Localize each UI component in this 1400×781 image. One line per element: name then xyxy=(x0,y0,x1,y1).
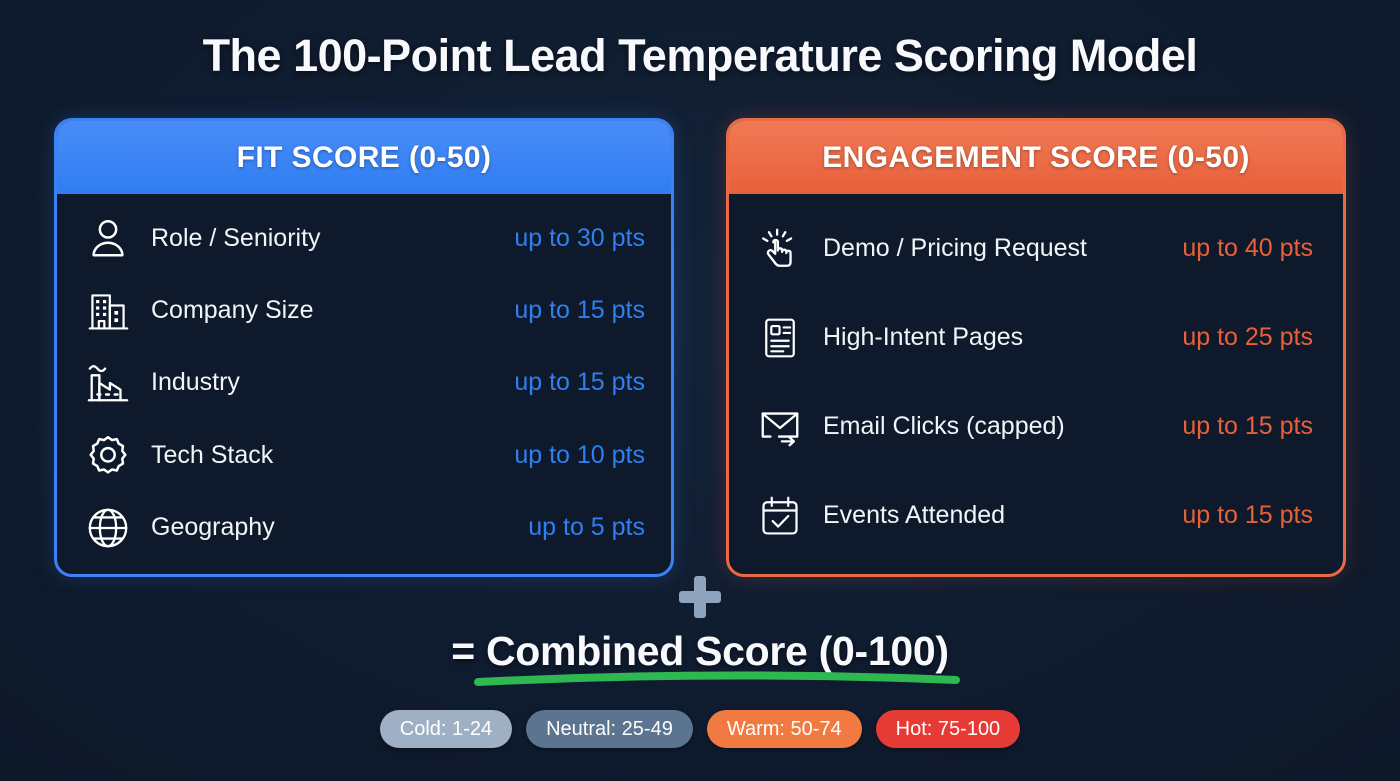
engagement-score-card: ENGAGEMENT SCORE (0-50) Demo / Pricing R… xyxy=(726,118,1346,577)
click-hand-icon xyxy=(755,224,805,274)
list-item: Demo / Pricing Request up to 40 pts xyxy=(755,224,1313,274)
email-arrow-icon xyxy=(755,402,805,452)
calendar-check-icon xyxy=(755,491,805,541)
list-item-points: up to 40 pts xyxy=(1182,234,1313,263)
list-item-points: up to 25 pts xyxy=(1182,323,1313,352)
status-badge-warm: Warm: 50-74 xyxy=(707,710,862,748)
list-item-points: up to 15 pts xyxy=(514,296,645,325)
list-item-label: High-Intent Pages xyxy=(823,323,1023,352)
fit-score-header: FIT SCORE (0-50) xyxy=(57,121,671,194)
list-item-label: Industry xyxy=(151,368,240,397)
person-icon xyxy=(83,213,133,263)
status-badge-cold: Cold: 1-24 xyxy=(380,710,512,748)
list-item: Geography up to 5 pts xyxy=(83,503,645,553)
list-item-label: Demo / Pricing Request xyxy=(823,234,1087,263)
list-item-points: up to 15 pts xyxy=(1182,501,1313,530)
page-title: The 100-Point Lead Temperature Scoring M… xyxy=(0,30,1400,82)
list-item-label: Tech Stack xyxy=(151,441,273,470)
engagement-score-items: Demo / Pricing Request up to 40 pts High… xyxy=(729,194,1343,574)
combined-score-underline xyxy=(472,668,962,686)
list-item: Industry up to 15 pts xyxy=(83,358,645,408)
building-icon xyxy=(83,286,133,336)
list-item: High-Intent Pages up to 25 pts xyxy=(755,313,1313,363)
list-item-label: Role / Seniority xyxy=(151,224,321,253)
list-item-label: Geography xyxy=(151,513,275,542)
fit-score-card: FIT SCORE (0-50) Role / Seniority up to … xyxy=(54,118,674,577)
document-page-icon xyxy=(755,313,805,363)
factory-icon xyxy=(83,358,133,408)
fit-score-items: Role / Seniority up to 30 pts xyxy=(57,194,671,574)
list-item: Company Size up to 15 pts xyxy=(83,286,645,336)
gear-icon xyxy=(83,430,133,480)
list-item-points: up to 30 pts xyxy=(514,224,645,253)
globe-icon xyxy=(83,503,133,553)
list-item: Tech Stack up to 10 pts xyxy=(83,430,645,480)
list-item-points: up to 15 pts xyxy=(514,368,645,397)
list-item-points: up to 10 pts xyxy=(514,441,645,470)
engagement-score-header: ENGAGEMENT SCORE (0-50) xyxy=(729,121,1343,194)
status-badge-hot: Hot: 75-100 xyxy=(876,710,1021,748)
list-item: Email Clicks (capped) up to 15 pts xyxy=(755,402,1313,452)
temperature-legend: Cold: 1-24 Neutral: 25-49 Warm: 50-74 Ho… xyxy=(0,710,1400,748)
plus-operator-icon xyxy=(679,576,721,618)
list-item-label: Events Attended xyxy=(823,501,1005,530)
list-item: Role / Seniority up to 30 pts xyxy=(83,213,645,263)
status-badge-neutral: Neutral: 25-49 xyxy=(526,710,693,748)
list-item: Events Attended up to 15 pts xyxy=(755,491,1313,541)
list-item-points: up to 15 pts xyxy=(1182,412,1313,441)
infographic-root: The 100-Point Lead Temperature Scoring M… xyxy=(0,0,1400,781)
list-item-label: Email Clicks (capped) xyxy=(823,412,1065,441)
list-item-label: Company Size xyxy=(151,296,314,325)
list-item-points: up to 5 pts xyxy=(528,513,645,542)
